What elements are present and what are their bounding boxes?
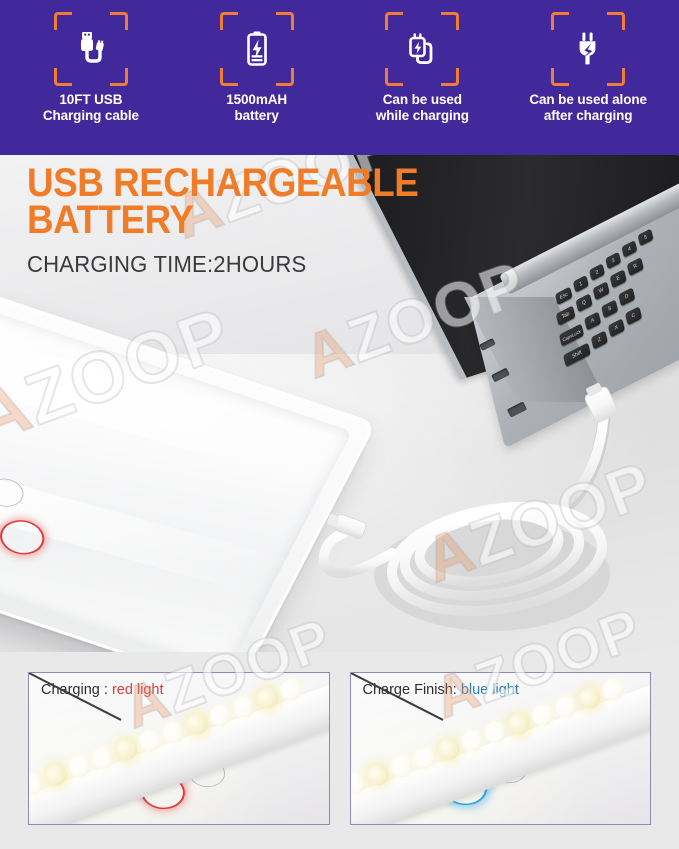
led-bead [505,710,532,737]
led-bead [552,693,579,720]
led-panel-body [0,250,377,652]
page-title: USB RECHARGEABLE BATTERY [27,165,418,239]
page-subtitle: CHARGING TIME:2HOURS [27,251,435,278]
bracket-corner-icon [551,12,569,30]
led-light-panel-product [0,250,480,650]
icon-frame [220,12,294,86]
led-bead [137,727,164,754]
key-e: E [610,269,627,288]
bracket-corner-icon [441,68,459,86]
led-bead [411,744,438,771]
icon-frame [54,12,128,86]
unplugged-plug-icon [566,27,610,71]
status-panel-row: Charging : red light [0,652,679,849]
bracket-corner-icon [607,12,625,30]
charging-indicator-ring [0,515,50,559]
status-panel-charge-finish: Charge Finish: blue light [350,672,652,825]
feature-item-use-alone: Can be used alone after charging [505,12,671,125]
bracket-corner-icon [220,68,238,86]
bracket-corner-icon [220,12,238,30]
led-bead [576,684,603,711]
icon-frame [385,12,459,86]
key-d: D [618,287,635,306]
product-infographic-page: 10FT USB Charging cable 1500mAH battery [0,0,679,849]
bracket-corner-icon [110,68,128,86]
key-a: A [584,311,601,330]
led-bead [388,753,415,780]
charger-plug-cable-icon [400,27,444,71]
key-r: R [627,257,644,276]
feature-label: 10FT USB Charging cable [43,92,139,125]
led-bead [254,684,281,711]
key-shift: Shift [563,342,591,367]
hero-heading-block: USB RECHARGEABLE BATTERY CHARGING TIME:2… [27,165,452,278]
led-bead [529,701,556,728]
panel-reflection [0,416,314,606]
bracket-corner-icon [54,12,72,30]
led-bead [207,701,234,728]
icon-frame [551,12,625,86]
key-z: Z [591,330,608,349]
feature-item-use-while-charging: Can be used while charging [340,12,506,125]
key-q: Q [575,293,592,312]
key-c: C [625,306,642,325]
led-bead [160,718,187,745]
feature-item-battery: 1500mAH battery [174,12,340,125]
usb-cable-icon [69,27,113,71]
status-panel-charging: Charging : red light [28,672,330,825]
power-button-ring[interactable] [0,474,28,510]
led-bead [350,770,368,797]
led-bead [482,718,509,745]
key-x: X [608,318,625,337]
led-bead [435,736,462,763]
led-bead [43,761,70,788]
feature-item-usb-cable: 10FT USB Charging cable [8,12,174,125]
battery-charge-icon [235,27,279,71]
led-bead [364,761,391,788]
key-esc: Esc [555,287,573,306]
feature-banner: 10FT USB Charging cable 1500mAH battery [0,0,679,155]
key-w: W [593,281,610,300]
bracket-corner-icon [276,68,294,86]
status-caption-highlight: red light [112,682,164,698]
bracket-corner-icon [441,12,459,30]
key-capslock: CapsLock [559,323,584,346]
bracket-corner-icon [607,68,625,86]
status-caption-highlight: blue light [461,682,519,698]
key-1: 1 [573,275,589,293]
led-bead [66,753,93,780]
led-bead [458,727,485,754]
bracket-corner-icon [54,68,72,86]
led-bead [184,710,211,737]
bracket-corner-icon [276,12,294,30]
led-bead [90,744,117,771]
led-bead [278,676,305,703]
key-tab: Tab [556,305,576,326]
bracket-corner-icon [110,12,128,30]
feature-label: Can be used alone after charging [529,92,647,125]
led-bead [599,676,626,703]
led-bead [231,693,258,720]
feature-label: 1500mAH battery [226,92,287,125]
bracket-corner-icon [385,12,403,30]
led-bead [28,770,46,797]
key-s: S [601,299,618,318]
led-bead [113,736,140,763]
feature-label: Can be used while charging [376,92,469,125]
bracket-corner-icon [551,68,569,86]
bracket-corner-icon [385,68,403,86]
